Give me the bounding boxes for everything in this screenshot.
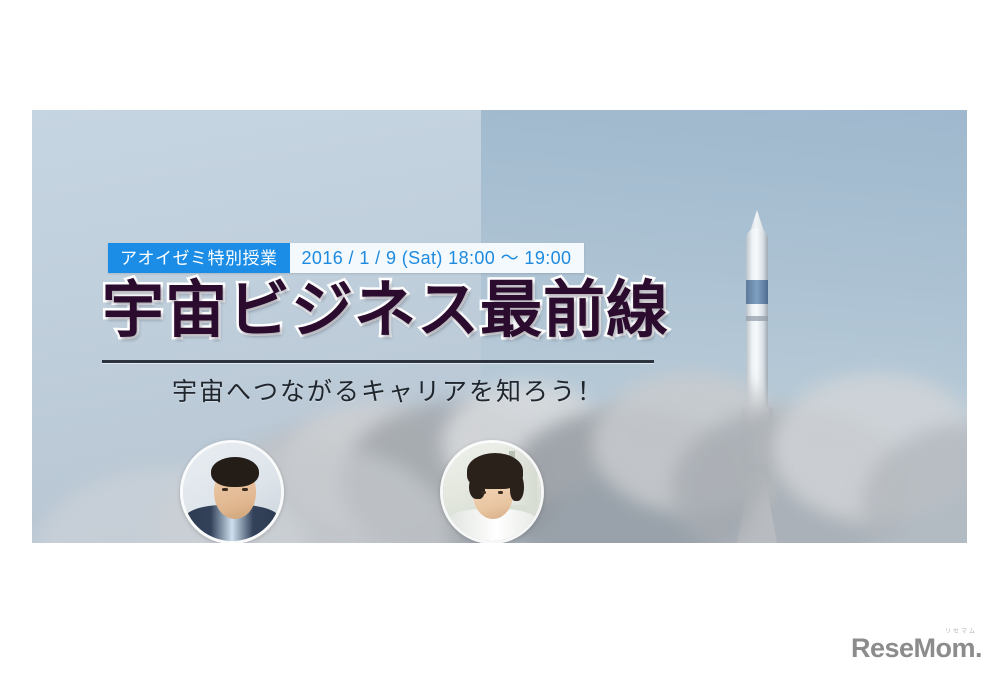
- avatar: [180, 440, 284, 543]
- avatar: [440, 440, 544, 543]
- page-canvas: アオイゼミ特別授業 2016 / 1 / 9 (Sat) 18:00 ～ 19:…: [0, 0, 998, 676]
- program-badge: アオイゼミ特別授業: [108, 243, 290, 273]
- watermark-text: ReseMom.: [851, 635, 982, 662]
- speaker-lecturer: 講師：青木 英剛 グローバル・ブレイン株式会社 投資家 宇宙エバンジェリスト: [107, 440, 357, 543]
- resemom-watermark: リセマム ReseMom.: [851, 626, 982, 662]
- banner-subtitle: 宇宙へつながるキャリアを知ろう！: [172, 372, 604, 408]
- banner-title: 宇宙ビジネス最前線: [102, 280, 669, 342]
- title-divider: [102, 360, 654, 363]
- speaker-list: 講師：青木 英剛 グローバル・ブレイン株式会社 投資家 宇宙エバンジェリスト: [102, 440, 622, 543]
- event-header-row: アオイゼミ特別授業 2016 / 1 / 9 (Sat) 18:00 ～ 19:…: [108, 243, 584, 273]
- event-banner: アオイゼミ特別授業 2016 / 1 / 9 (Sat) 18:00 ～ 19:…: [32, 110, 967, 543]
- event-datetime: 2016 / 1 / 9 (Sat) 18:00 ～ 19:00: [290, 243, 585, 273]
- speaker-host: 司会：早川 和希 アオイゼミ（株式会社 葵） 中学講座 理科講師: [367, 440, 617, 543]
